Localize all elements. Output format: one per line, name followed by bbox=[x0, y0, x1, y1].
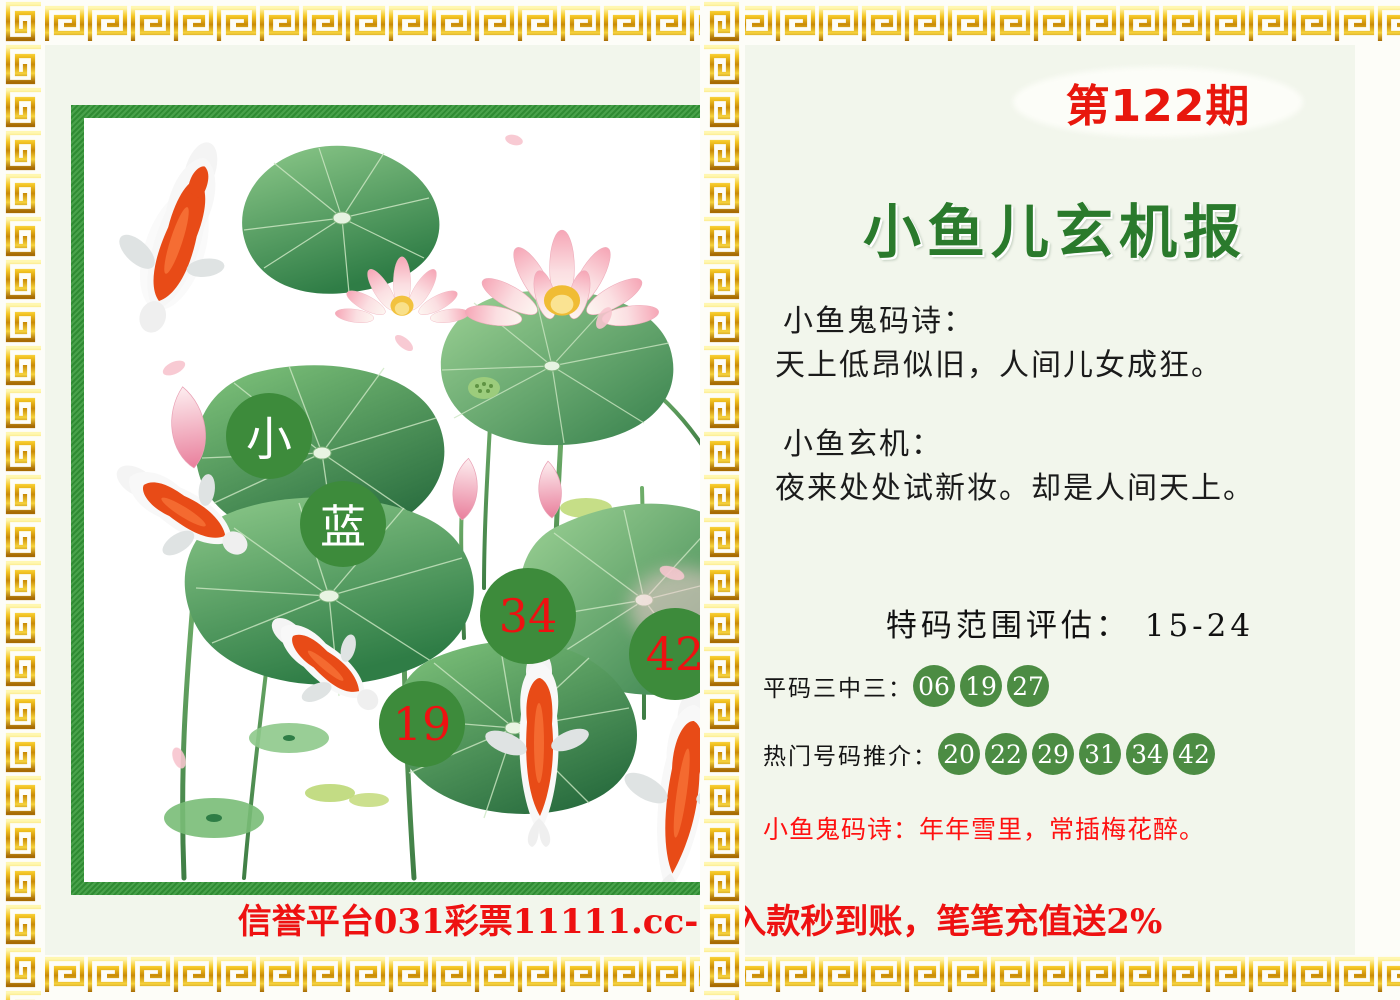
poster-root: 小 蓝 34 42 19 第122期 bbox=[0, 0, 1400, 1000]
verse-2-text: 夜来处处试新妆。却是人间天上。 bbox=[765, 467, 1365, 511]
marker-label: 34 bbox=[499, 589, 558, 643]
right-panel: 小鱼儿玄机报 小鱼鬼码诗： 天上低昂似旧，人间儿女成狂。 小鱼玄机： 夜来处处试… bbox=[745, 45, 1355, 955]
red-note-text: 小鱼鬼码诗：年年雪里，常插梅花醉。 bbox=[763, 810, 1383, 846]
verse-1-label: 小鱼鬼码诗： bbox=[765, 300, 1365, 344]
verse-block-1: 小鱼鬼码诗： 天上低昂似旧，人间儿女成狂。 bbox=[765, 300, 1365, 387]
issue-badge: 第122期 bbox=[1013, 67, 1303, 137]
number-ball[interactable]: 29 bbox=[1032, 733, 1074, 775]
marker-number-19[interactable]: 19 bbox=[379, 681, 465, 767]
koi-fish-4 bbox=[484, 648, 594, 848]
marker-number-34[interactable]: 34 bbox=[480, 568, 576, 664]
number-ball[interactable]: 34 bbox=[1126, 733, 1168, 775]
marker-word-xiao[interactable]: 小 bbox=[226, 393, 312, 479]
number-ball[interactable]: 22 bbox=[985, 733, 1027, 775]
marker-word-lan[interactable]: 蓝 bbox=[300, 481, 386, 567]
marker-label: 19 bbox=[393, 697, 452, 751]
verse-block-2: 小鱼玄机： 夜来处处试新妆。却是人间天上。 bbox=[765, 423, 1365, 510]
ball-row-label: 热门号码推介： bbox=[763, 737, 938, 771]
ball-row-hot-numbers: 热门号码推介： 20 22 29 31 34 42 bbox=[763, 733, 1220, 775]
number-ball[interactable]: 27 bbox=[1007, 665, 1049, 707]
border-meander-left bbox=[0, 0, 45, 1000]
marker-label: 小 bbox=[246, 403, 292, 469]
number-ball[interactable]: 20 bbox=[938, 733, 980, 775]
verse-1-text: 天上低昂似旧，人间儿女成狂。 bbox=[765, 344, 1365, 388]
ball-row-three-in-three: 平码三中三： 06 19 27 bbox=[763, 665, 1054, 707]
verse-2-label: 小鱼玄机： bbox=[765, 423, 1365, 467]
illustration-frame: 小 蓝 34 42 19 bbox=[71, 105, 726, 895]
koi-fish-5 bbox=[619, 688, 713, 882]
special-range-text: 特码范围评估： 15-24 bbox=[765, 600, 1375, 645]
koi-fish-1 bbox=[114, 136, 244, 336]
number-ball[interactable]: 19 bbox=[960, 665, 1002, 707]
marker-label: 42 bbox=[646, 627, 705, 681]
border-meander-right bbox=[700, 0, 745, 1000]
issue-label: 第122期 bbox=[1066, 70, 1251, 134]
page-title: 小鱼儿玄机报 bbox=[770, 185, 1340, 269]
number-ball[interactable]: 06 bbox=[913, 665, 955, 707]
illustration-canvas: 小 蓝 34 42 19 bbox=[84, 118, 713, 882]
marker-label: 蓝 bbox=[320, 491, 366, 557]
number-ball[interactable]: 42 bbox=[1173, 733, 1215, 775]
koi-fish-3 bbox=[259, 598, 389, 728]
number-ball[interactable]: 31 bbox=[1079, 733, 1121, 775]
koi-fish-2 bbox=[104, 438, 254, 578]
ball-row-label: 平码三中三： bbox=[763, 669, 913, 703]
